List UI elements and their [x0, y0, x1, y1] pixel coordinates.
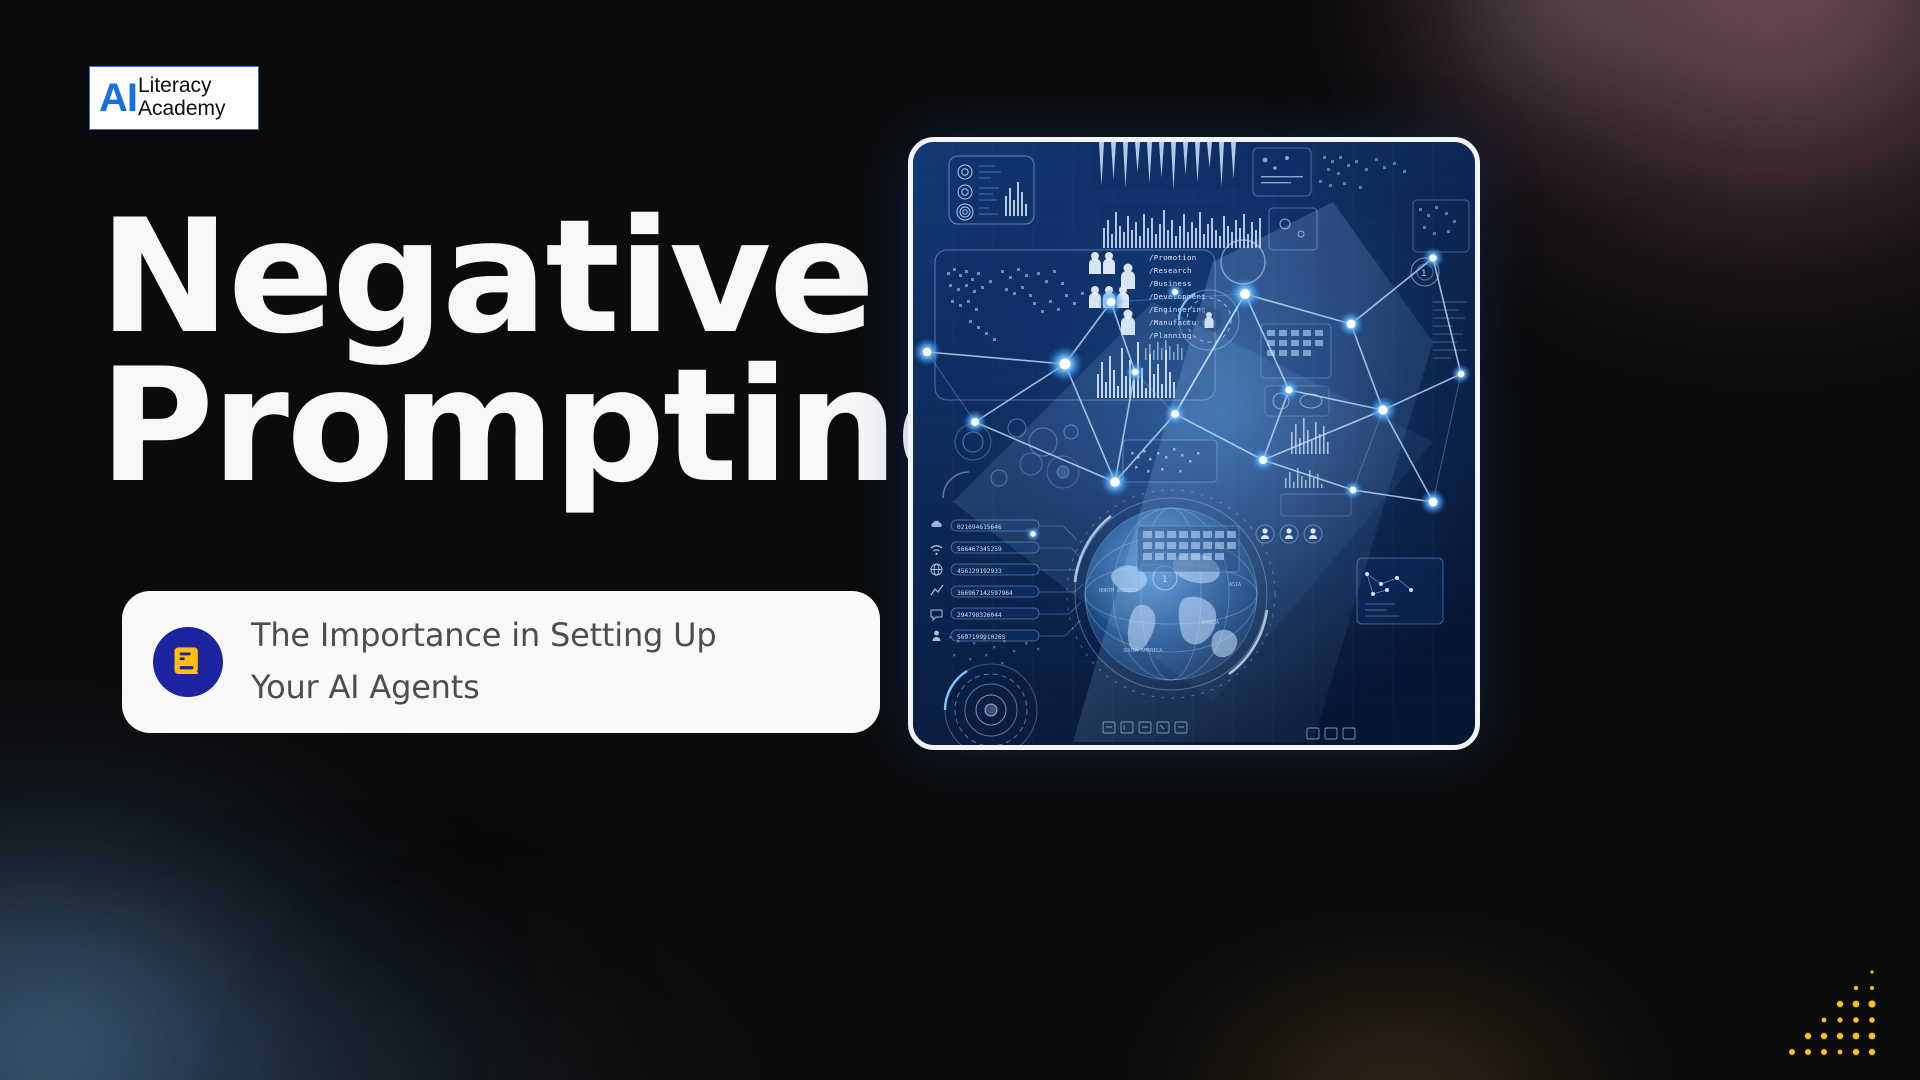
page-title: Negative Prompting	[99, 200, 919, 505]
logo-wordmark: Literacy Academy	[138, 75, 226, 120]
logo-word-literacy: Literacy	[138, 75, 226, 98]
page-title-line-1: Negative	[99, 200, 919, 355]
gold-dot-grid	[1776, 962, 1888, 1058]
book-icon	[153, 627, 223, 697]
ai-data-network-visual: /Promotion /Research /Business /Developm…	[908, 137, 1480, 750]
ai-literacy-academy-logo[interactable]: AI Literacy Academy	[89, 66, 259, 130]
subtitle-card[interactable]: The Importance in Setting Up Your AI Age…	[122, 591, 880, 733]
subtitle-line-2: Your AI Agents	[251, 662, 716, 714]
logo-ai-text: AI	[99, 78, 137, 118]
svg-text:1: 1	[1421, 269, 1426, 279]
svg-text:/Promotion: /Promotion	[1149, 253, 1197, 262]
subtitle-text: The Importance in Setting Up Your AI Age…	[251, 610, 716, 714]
svg-text:456129192933: 456129192933	[957, 568, 1002, 575]
svg-text:569719991026S: 569719991026S	[957, 634, 1006, 641]
subtitle-line-1: The Importance in Setting Up	[251, 610, 716, 662]
page-title-line-2: Prompting	[99, 349, 919, 504]
hero-illustration: /Promotion /Research /Business /Developm…	[913, 142, 1475, 745]
logo-word-academy: Academy	[138, 98, 226, 121]
glow-amber-bottom	[1160, 995, 1640, 1080]
svg-text:/Research: /Research	[1149, 266, 1192, 275]
svg-text:294798326044: 294798326044	[957, 612, 1002, 619]
hero-panel-dials	[949, 156, 1034, 224]
svg-text:366967142597964: 366967142597964	[957, 590, 1013, 597]
svg-text:566467345259: 566467345259	[957, 546, 1002, 553]
